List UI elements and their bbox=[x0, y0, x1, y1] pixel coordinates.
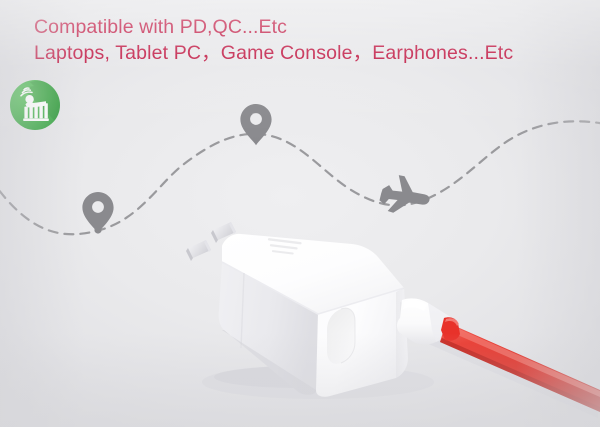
scene-illustration bbox=[0, 0, 600, 427]
map-pin-center bbox=[240, 104, 271, 145]
product-banner: Compatible with PD,QC...Etc Laptops, Tab… bbox=[0, 0, 600, 427]
charging-cable bbox=[397, 298, 600, 418]
brand-logo bbox=[10, 76, 70, 136]
wall-charger bbox=[186, 222, 434, 399]
airplane-icon bbox=[376, 170, 435, 224]
map-pin-left bbox=[82, 192, 113, 234]
